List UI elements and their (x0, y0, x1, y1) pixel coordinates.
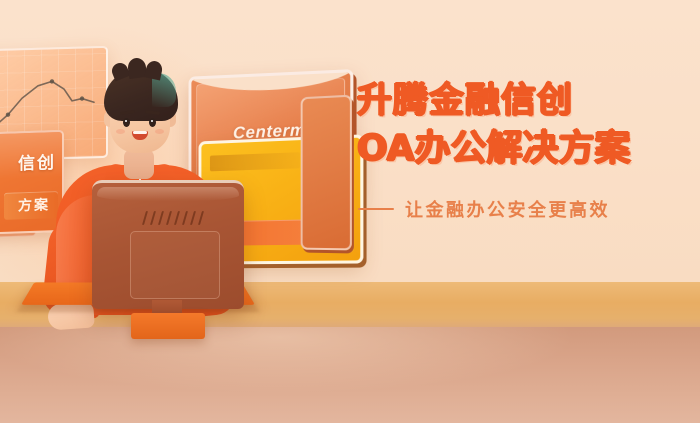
person-cheek-left (116, 129, 125, 134)
monitor-lip (97, 187, 239, 201)
person-teeth (133, 131, 147, 134)
screen-back-sliver (301, 95, 352, 251)
monitor-vents-icon (144, 211, 206, 225)
monitor-back (92, 180, 244, 309)
person-eye-highlight-left (125, 120, 127, 122)
headline-line-1: 升腾金融信创 (357, 78, 687, 125)
person-neck (124, 149, 154, 179)
subtitle-block: 让金融办公安全更高效 (358, 196, 610, 222)
monitor-recess (130, 231, 220, 299)
floor-sheen (0, 327, 700, 423)
subtitle-text: 让金融办公安全更高效 (405, 196, 610, 222)
promo-banner: 信创 方案 Centerm (0, 0, 700, 423)
monitor-base (131, 313, 205, 339)
subtitle-dash-icon (358, 208, 394, 210)
person-cheek-right (155, 129, 164, 134)
person-eye-highlight-right (151, 120, 153, 122)
headline-block: 升腾金融信创 OA办公解决方案 (357, 78, 687, 172)
headline-line-2: OA办公解决方案 (357, 125, 687, 172)
